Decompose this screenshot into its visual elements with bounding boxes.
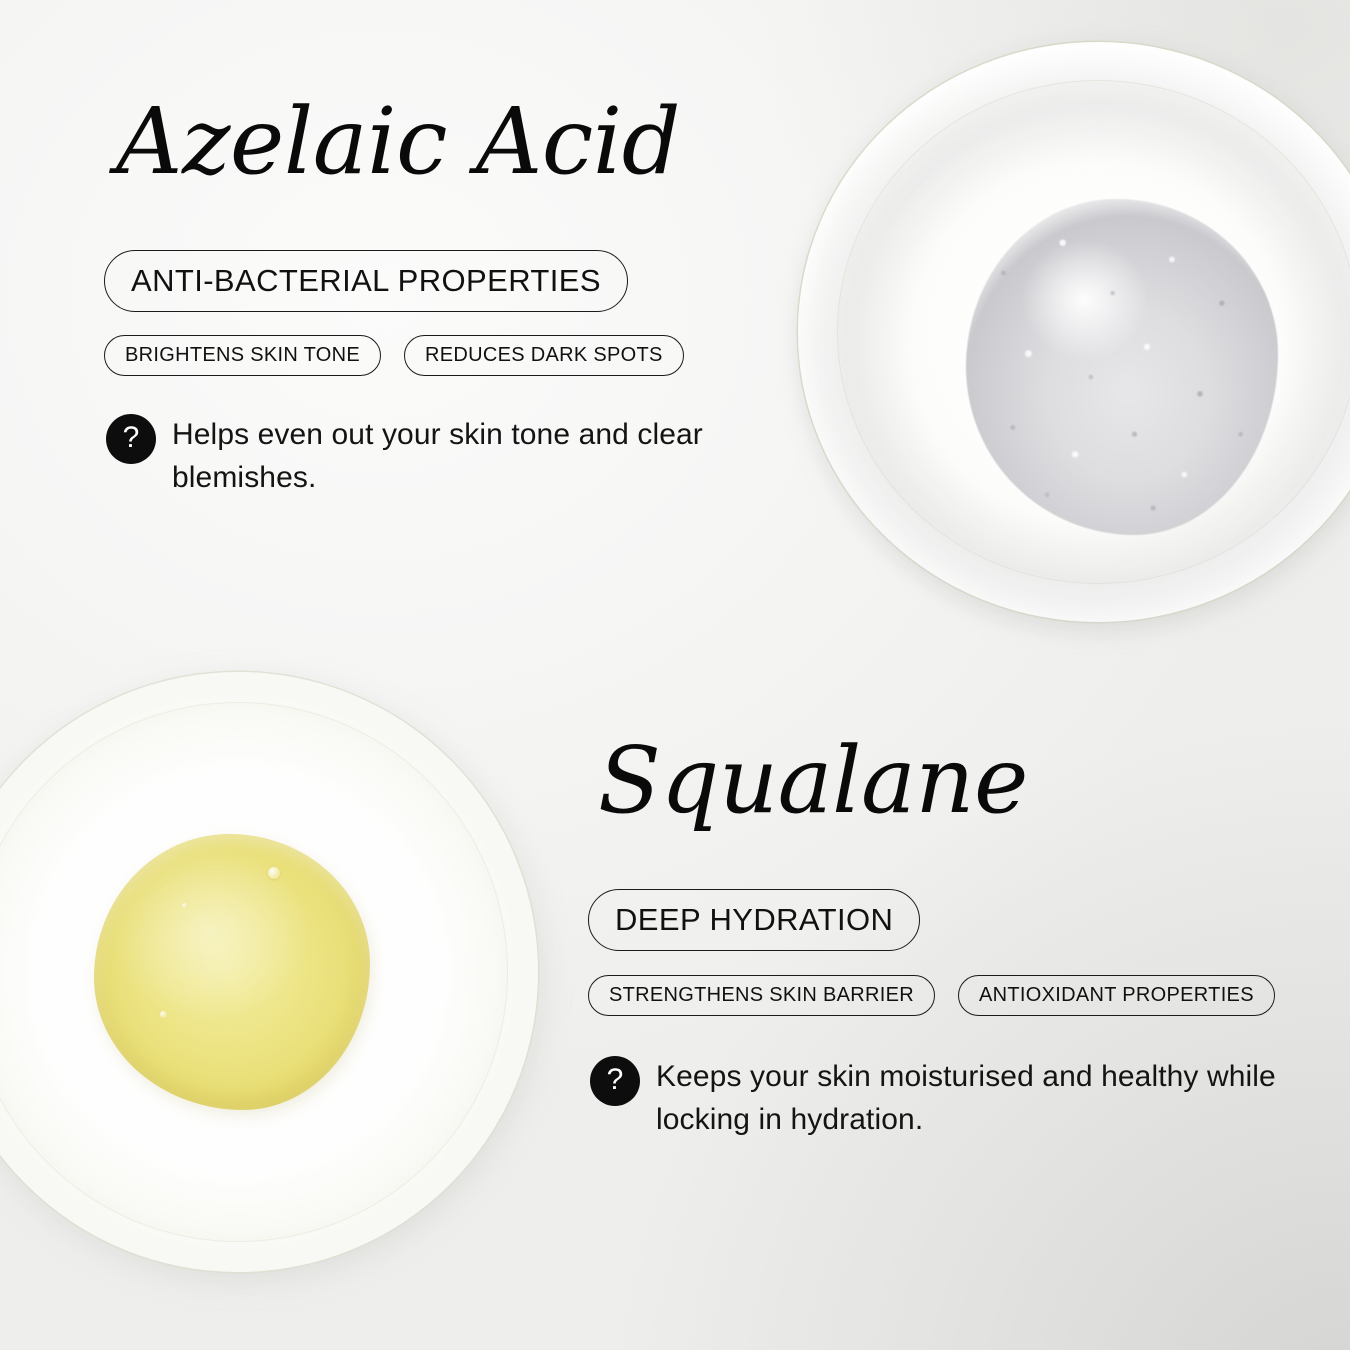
- note-text-squalane: Keeps your skin moisturised and healthy …: [656, 1056, 1296, 1141]
- oil-bubble-icon: [182, 903, 187, 908]
- powder-dish-photo: [798, 42, 1350, 622]
- ingredient-section-azelaic-acid: Azelaic Acid ANTI-BACTERIAL PROPERTIES B…: [104, 96, 792, 499]
- yellow-oil-droplet: [94, 834, 370, 1110]
- note-squalane: ? Keeps your skin moisturised and health…: [590, 1056, 1296, 1141]
- primary-badge-row-azelaic: ANTI-BACTERIAL PROPERTIES: [104, 250, 792, 312]
- badge-brightens-skin-tone[interactable]: BRIGHTENS SKIN TONE: [104, 335, 381, 376]
- badge-anti-bacterial-properties[interactable]: ANTI-BACTERIAL PROPERTIES: [104, 250, 628, 312]
- oil-bubble-icon: [268, 867, 280, 879]
- badge-antioxidant-properties[interactable]: ANTIOXIDANT PROPERTIES: [958, 975, 1275, 1016]
- note-azelaic-acid: ? Helps even out your skin tone and clea…: [106, 414, 792, 499]
- badge-reduces-dark-spots[interactable]: REDUCES DARK SPOTS: [404, 335, 684, 376]
- secondary-badge-row-squalane: STRENGTHENS SKIN BARRIER ANTIOXIDANT PRO…: [588, 975, 1296, 1016]
- primary-badge-row-squalane: DEEP HYDRATION: [588, 889, 1296, 951]
- ingredient-infographic: Azelaic Acid ANTI-BACTERIAL PROPERTIES B…: [0, 0, 1350, 1350]
- ingredient-title-squalane: Squalane: [598, 735, 1296, 827]
- secondary-badge-row-azelaic: BRIGHTENS SKIN TONE REDUCES DARK SPOTS: [104, 335, 792, 376]
- badge-strengthens-skin-barrier[interactable]: STRENGTHENS SKIN BARRIER: [588, 975, 935, 1016]
- oil-bubble-icon: [160, 1011, 167, 1018]
- ingredient-section-squalane: Squalane DEEP HYDRATION STRENGTHENS SKIN…: [588, 735, 1296, 1141]
- ingredient-title-azelaic-acid: Azelaic Acid: [116, 96, 792, 188]
- question-mark-icon: ?: [590, 1056, 640, 1106]
- badge-deep-hydration[interactable]: DEEP HYDRATION: [588, 889, 920, 951]
- question-mark-icon: ?: [106, 414, 156, 464]
- note-text-azelaic-acid: Helps even out your skin tone and clear …: [172, 414, 792, 499]
